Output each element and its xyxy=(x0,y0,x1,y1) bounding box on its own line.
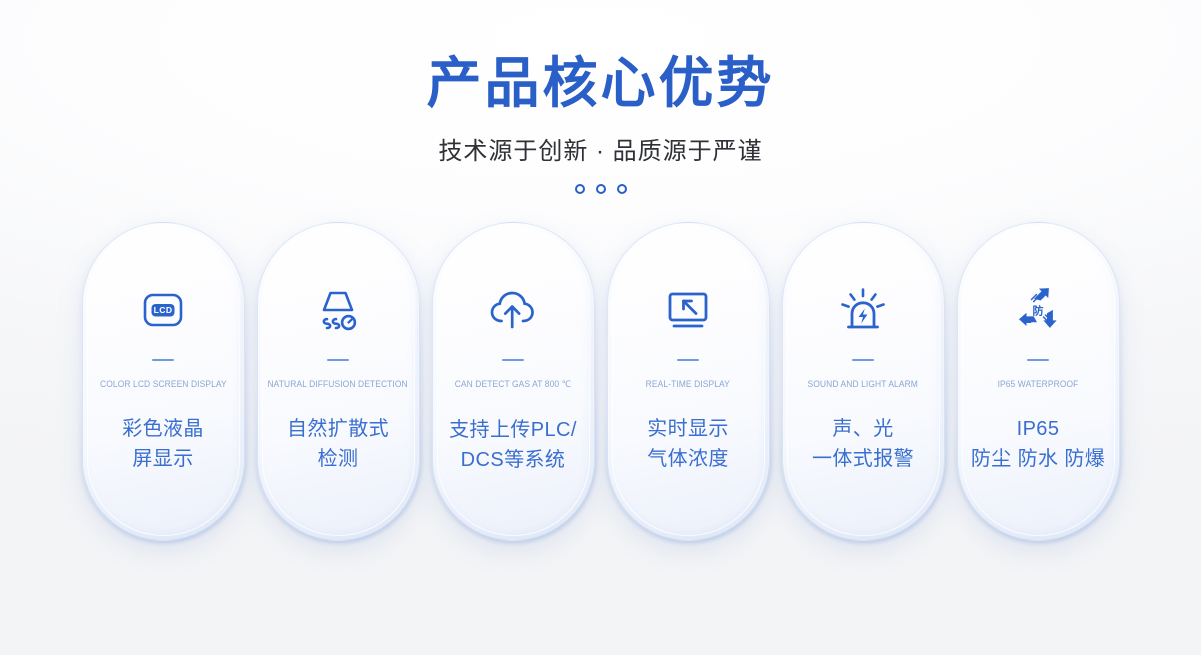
feature-card-lcd[interactable]: LCD COLOR LCD SCREEN DISPLAY 彩色液晶 屏显示 xyxy=(82,222,245,541)
feature-card-realtime-display[interactable]: REAL-TIME DISPLAY 实时显示 气体浓度 xyxy=(607,222,770,541)
feature-card-natural-diffusion[interactable]: NATURAL DIFFUSION DETECTION 自然扩散式 检测 xyxy=(257,222,420,541)
feature-card-sound-light-alarm[interactable]: SOUND AND LIGHT ALARM 声、光 一体式报警 xyxy=(782,222,945,541)
page-title: 产品核心优势 xyxy=(0,52,1201,115)
card-caption-cn: 声、光 一体式报警 xyxy=(812,415,914,474)
card-caption-en: NATURAL DIFFUSION DETECTION xyxy=(268,379,408,389)
decorative-dots xyxy=(0,184,1201,194)
monitor-display-icon xyxy=(661,281,715,337)
dot-1 xyxy=(575,184,585,194)
alarm-beacon-icon xyxy=(836,281,890,337)
card-divider xyxy=(152,359,174,361)
feature-card-ip65-waterproof[interactable]: 防 IP65 WATERPROOF IP65 防尘 防水 防爆 xyxy=(957,222,1120,541)
card-caption-cn: 彩色液晶 屏显示 xyxy=(122,415,204,474)
svg-text:LCD: LCD xyxy=(154,305,173,315)
card-caption-cn: 支持上传PLC/ DCS等系统 xyxy=(449,416,577,475)
cloud-upload-icon xyxy=(486,281,540,337)
card-caption-en: REAL-TIME DISPLAY xyxy=(646,379,730,389)
card-caption-cn: IP65 防尘 防水 防爆 xyxy=(971,415,1105,474)
card-caption-en: IP65 WATERPROOF xyxy=(998,379,1079,389)
lcd-screen-icon: LCD xyxy=(137,281,189,337)
page-header: 产品核心优势 技术源于创新 · 品质源于严谨 xyxy=(0,0,1201,194)
card-caption-en: SOUND AND LIGHT ALARM xyxy=(808,379,918,389)
dot-2 xyxy=(596,184,606,194)
card-caption-en: COLOR LCD SCREEN DISPLAY xyxy=(100,379,227,389)
card-caption-cn: 自然扩散式 检测 xyxy=(287,415,389,474)
page-subtitle: 技术源于创新 · 品质源于严谨 xyxy=(0,131,1201,166)
feature-card-row: LCD COLOR LCD SCREEN DISPLAY 彩色液晶 屏显示 NA… xyxy=(0,222,1201,541)
card-divider xyxy=(677,359,699,361)
recycle-protection-icon: 防 xyxy=(1011,281,1065,337)
card-caption-en: CAN DETECT GAS AT 800 ℃ xyxy=(455,379,572,390)
feature-card-cloud-upload[interactable]: CAN DETECT GAS AT 800 ℃ 支持上传PLC/ DCS等系统 xyxy=(432,222,595,541)
card-divider xyxy=(1027,359,1049,361)
card-divider xyxy=(502,359,524,361)
dot-3 xyxy=(617,184,627,194)
card-caption-cn: 实时显示 气体浓度 xyxy=(647,415,729,474)
natural-diffusion-sensor-icon xyxy=(312,281,364,337)
svg-text:防: 防 xyxy=(1033,304,1044,318)
card-divider xyxy=(852,359,874,361)
card-divider xyxy=(327,359,349,361)
